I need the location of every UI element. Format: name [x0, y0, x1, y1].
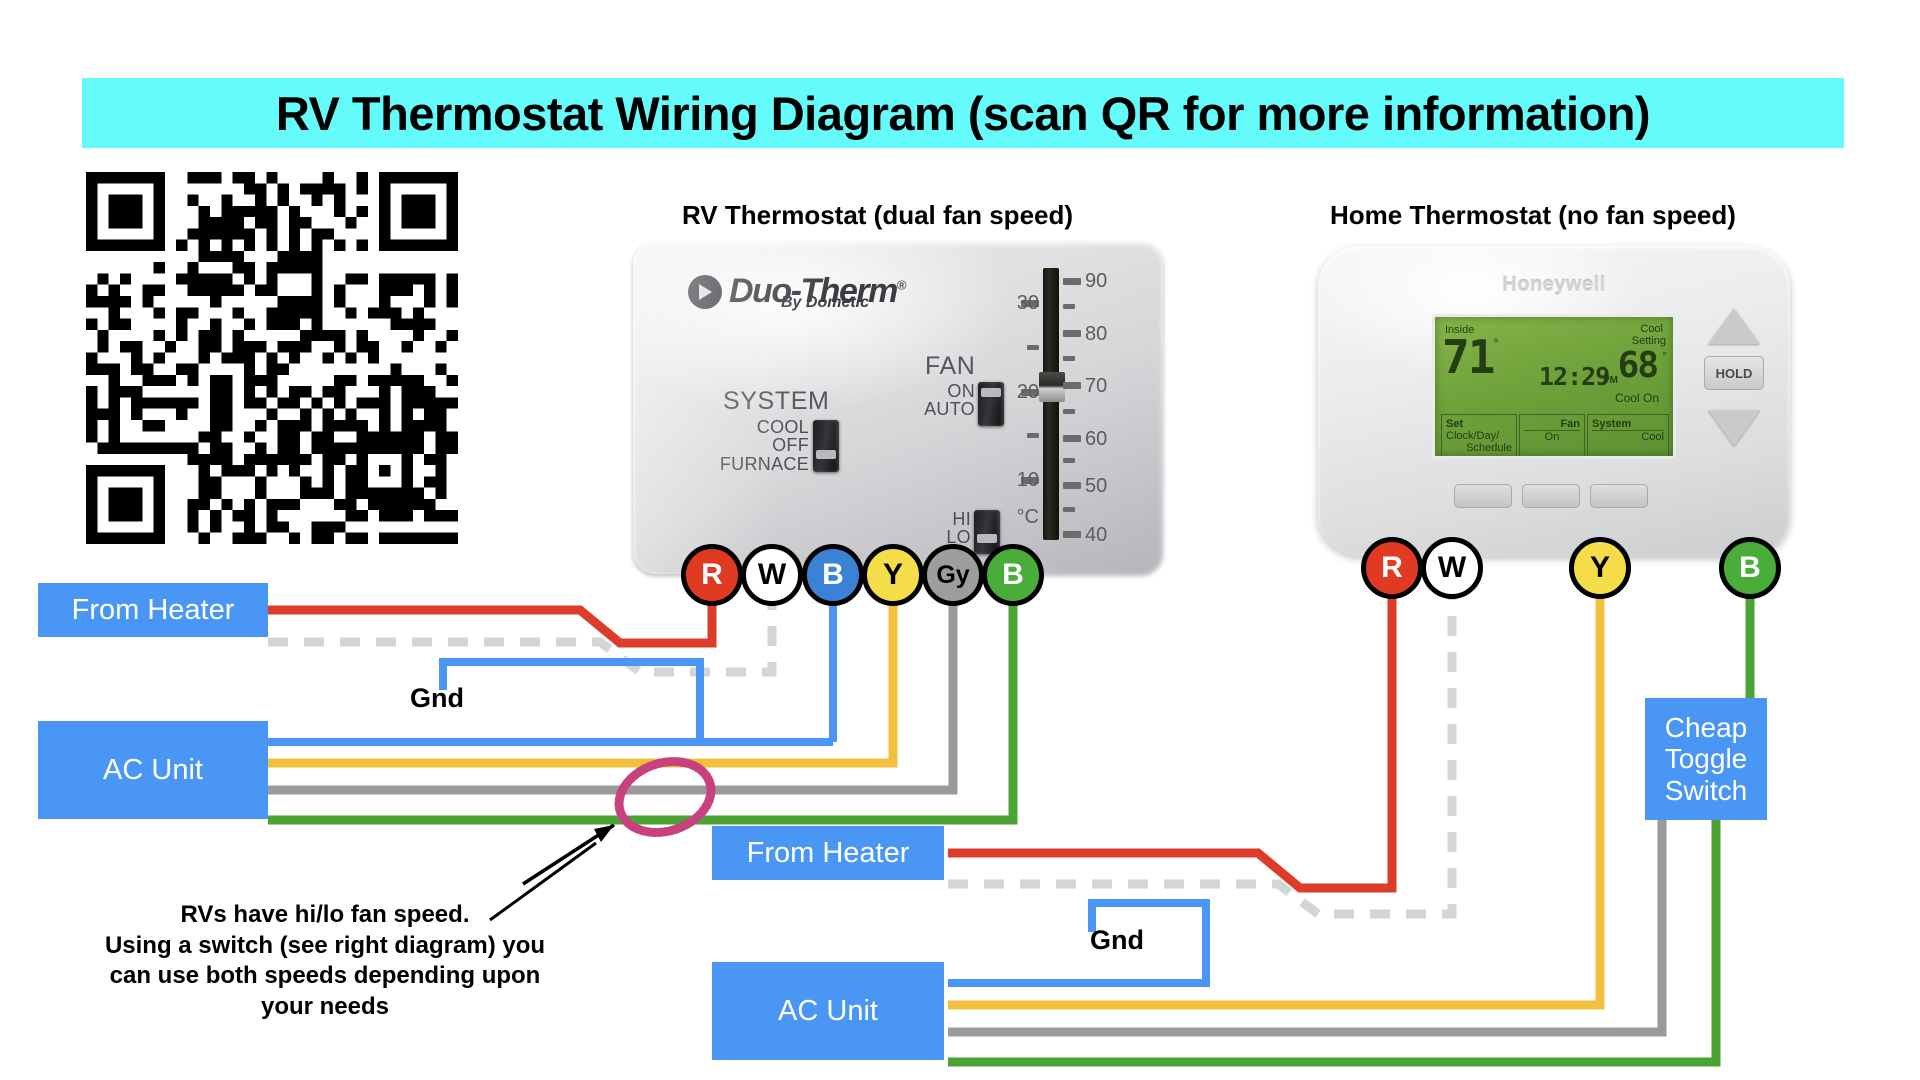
note-line-1: RVs have hi/lo fan speed.	[30, 900, 620, 931]
note-line-2: Using a switch (see right diagram) you	[30, 931, 620, 962]
right-ac-unit-box: AC Unit	[712, 962, 944, 1060]
wire-right-yellow-ac-to-y	[948, 568, 1600, 1005]
wire-right-white-dashed	[948, 568, 1452, 914]
right-from-heater-box: From Heater	[712, 826, 944, 880]
wire-left-yellow-ac-to-y	[268, 575, 893, 763]
cheap-toggle-switch-box[interactable]: Cheap Toggle Switch	[1645, 698, 1767, 820]
diagram-canvas: RV Thermostat Wiring Diagram (scan QR fo…	[0, 0, 1920, 1080]
home-terminal-r[interactable]: R	[1361, 537, 1423, 599]
left-ac-unit-box: AC Unit	[38, 721, 268, 819]
home-terminal-y-label: Y	[1590, 551, 1610, 585]
left-gnd-label: Gnd	[410, 683, 464, 714]
rv-terminal-y-label: Y	[883, 558, 903, 592]
rv-terminal-w[interactable]: W	[741, 544, 803, 606]
explanatory-note: RVs have hi/lo fan speed. Using a switch…	[30, 900, 620, 1023]
home-terminal-w-label: W	[1438, 551, 1466, 585]
home-terminal-b-label: B	[1739, 551, 1761, 585]
note-line-4: your needs	[30, 992, 620, 1023]
home-terminal-r-label: R	[1381, 551, 1403, 585]
rv-terminal-r[interactable]: R	[681, 544, 743, 606]
right-gnd-label: Gnd	[1090, 925, 1144, 956]
toggle-switch-line-1: Cheap	[1665, 712, 1748, 743]
rv-terminal-b-blue[interactable]: B	[802, 544, 864, 606]
rv-terminal-b-green-label: B	[1002, 558, 1024, 592]
home-terminal-b[interactable]: B	[1719, 537, 1781, 599]
wire-right-blue-gnd	[948, 903, 1206, 983]
left-from-heater-box: From Heater	[38, 583, 268, 637]
rv-terminal-w-label: W	[758, 558, 786, 592]
home-terminal-y[interactable]: Y	[1569, 537, 1631, 599]
rv-terminal-b-green[interactable]: B	[982, 544, 1044, 606]
note-line-3: can use both speeds depending upon	[30, 961, 620, 992]
home-terminal-w[interactable]: W	[1421, 537, 1483, 599]
rv-terminal-b-blue-label: B	[822, 558, 844, 592]
rv-terminal-r-label: R	[701, 558, 723, 592]
toggle-switch-line-3: Switch	[1665, 775, 1747, 806]
rv-terminal-gy-label: Gy	[936, 561, 969, 590]
toggle-switch-line-2: Toggle	[1665, 743, 1748, 774]
rv-terminal-gy[interactable]: Gy	[922, 544, 984, 606]
callout-arrow	[523, 825, 614, 884]
wire-left-red-heater-to-r	[268, 575, 712, 643]
rv-terminal-y[interactable]: Y	[862, 544, 924, 606]
